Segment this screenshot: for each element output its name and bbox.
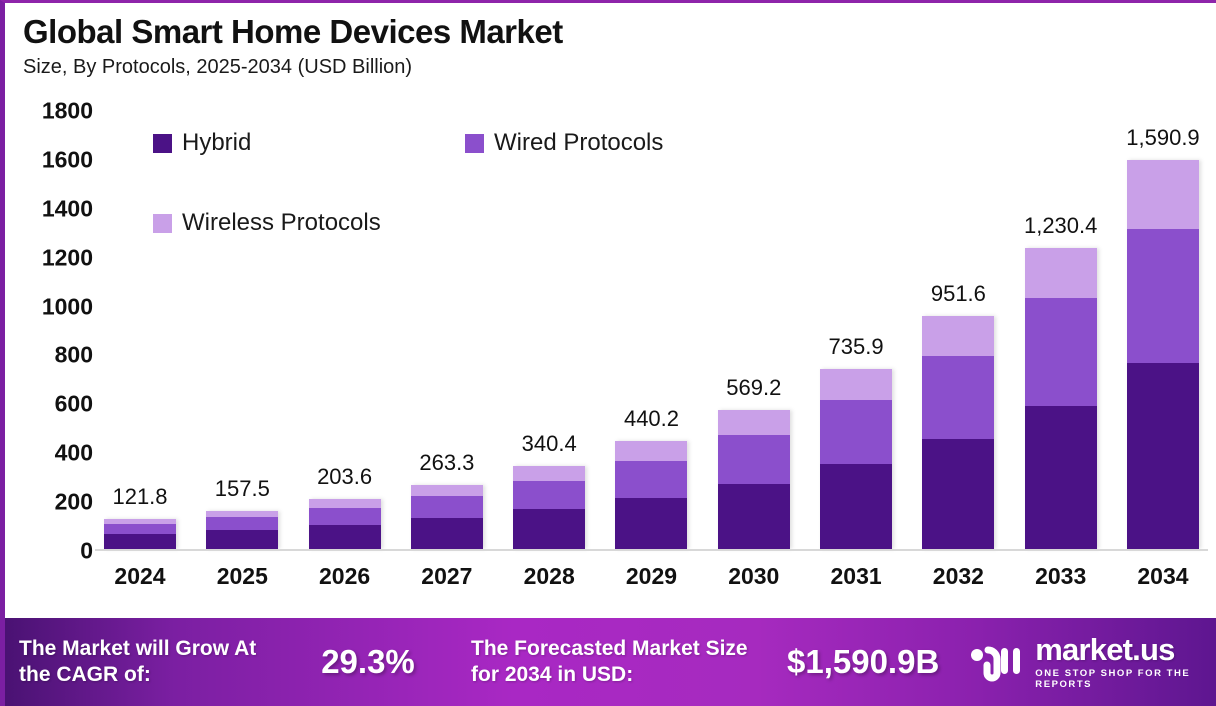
- bar-stack[interactable]: [1127, 160, 1199, 549]
- market-us-logo-icon: [969, 641, 1025, 683]
- x-axis: 2024202520262027202820292030203120322033…: [101, 563, 1202, 590]
- bar-value-label: 1,230.4: [1024, 213, 1097, 239]
- bar-value-label: 1,590.9: [1126, 125, 1199, 151]
- bar-value-label: 569.2: [726, 375, 781, 401]
- legend-item-wireless[interactable]: Wireless Protocols: [153, 209, 465, 237]
- header: Global Smart Home Devices Market Size, B…: [5, 3, 1216, 79]
- bar-segment-wireless[interactable]: [820, 369, 892, 400]
- bar-segment-hybrid[interactable]: [922, 439, 994, 549]
- cagr-block: The Market will Grow At the CAGR of: 29.…: [5, 636, 443, 689]
- bar-value-label: 340.4: [522, 431, 577, 457]
- bar-segment-hybrid[interactable]: [104, 534, 176, 549]
- x-axis-tick: 2027: [408, 563, 486, 590]
- bar-segment-hybrid[interactable]: [513, 509, 585, 549]
- bar-column[interactable]: 1,230.4: [1022, 111, 1100, 549]
- forecast-value: $1,590.9B: [787, 643, 939, 681]
- bar-segment-wireless[interactable]: [718, 410, 790, 435]
- bar-segment-wired[interactable]: [615, 461, 687, 498]
- bar-segment-wireless[interactable]: [1127, 160, 1199, 229]
- x-axis-tick: 2024: [101, 563, 179, 590]
- bar-value-label: 735.9: [829, 334, 884, 360]
- legend-swatch-icon: [153, 214, 172, 233]
- bar-segment-wired[interactable]: [922, 356, 994, 439]
- bar-segment-wired[interactable]: [820, 400, 892, 464]
- legend-swatch-icon: [465, 134, 484, 153]
- cagr-value: 29.3%: [293, 643, 443, 681]
- bar-segment-wired[interactable]: [513, 481, 585, 510]
- page-subtitle: Size, By Protocols, 2025-2034 (USD Billi…: [23, 56, 1216, 79]
- bar-value-label: 951.6: [931, 281, 986, 307]
- y-axis-tick: 1400: [5, 195, 93, 222]
- chart-area: 180016001400120010008006004002000 121.81…: [5, 111, 1216, 611]
- y-axis-tick: 1800: [5, 98, 93, 125]
- bar-value-label: 121.8: [112, 484, 167, 510]
- bar-segment-wireless[interactable]: [411, 485, 483, 496]
- y-axis-tick: 1200: [5, 244, 93, 271]
- market-us-logo-text: market.us ONE STOP SHOP FOR THE REPORTS: [1035, 634, 1216, 690]
- bar-stack[interactable]: [922, 316, 994, 549]
- bar-stack[interactable]: [104, 519, 176, 549]
- legend-swatch-icon: [153, 134, 172, 153]
- bar-value-label: 157.5: [215, 476, 270, 502]
- x-axis-tick: 2026: [306, 563, 384, 590]
- bar-value-label: 263.3: [419, 450, 474, 476]
- bar-segment-wired[interactable]: [309, 508, 381, 525]
- bar-segment-hybrid[interactable]: [615, 498, 687, 549]
- chart-page: Global Smart Home Devices Market Size, B…: [0, 0, 1216, 706]
- bar-stack[interactable]: [206, 511, 278, 549]
- legend-label: Hybrid: [182, 129, 251, 157]
- bar-stack[interactable]: [513, 466, 585, 549]
- y-axis-tick: 400: [5, 440, 93, 467]
- bar-segment-wired[interactable]: [411, 496, 483, 518]
- bar-column[interactable]: 951.6: [919, 111, 997, 549]
- forecast-label: The Forecasted Market Size for 2034 in U…: [471, 636, 771, 689]
- y-axis-tick: 200: [5, 489, 93, 516]
- bar-segment-wireless[interactable]: [513, 466, 585, 481]
- y-axis: 180016001400120010008006004002000: [5, 111, 93, 551]
- footer-bar: The Market will Grow At the CAGR of: 29.…: [5, 618, 1216, 706]
- bar-value-label: 440.2: [624, 406, 679, 432]
- bar-stack[interactable]: [411, 485, 483, 549]
- bar-segment-wireless[interactable]: [922, 316, 994, 356]
- bar-stack[interactable]: [820, 369, 892, 549]
- bar-value-label: 203.6: [317, 464, 372, 490]
- legend-label: Wired Protocols: [494, 129, 663, 157]
- y-axis-tick: 800: [5, 342, 93, 369]
- bar-segment-hybrid[interactable]: [1127, 363, 1199, 549]
- bar-stack[interactable]: [718, 410, 790, 549]
- bar-segment-hybrid[interactable]: [820, 464, 892, 549]
- x-axis-tick: 2029: [612, 563, 690, 590]
- bar-segment-wireless[interactable]: [1025, 248, 1097, 298]
- bar-segment-hybrid[interactable]: [411, 518, 483, 549]
- bar-stack[interactable]: [1025, 248, 1097, 549]
- x-axis-tick: 2033: [1022, 563, 1100, 590]
- bar-segment-hybrid[interactable]: [1025, 406, 1097, 549]
- x-axis-tick: 2031: [817, 563, 895, 590]
- logo-wordmark: market.us: [1035, 634, 1216, 665]
- x-axis-tick: 2032: [919, 563, 997, 590]
- x-axis-tick: 2030: [715, 563, 793, 590]
- market-us-logo[interactable]: market.us ONE STOP SHOP FOR THE REPORTS: [969, 634, 1216, 690]
- bar-column[interactable]: 735.9: [817, 111, 895, 549]
- bar-stack[interactable]: [309, 499, 381, 549]
- bar-stack[interactable]: [615, 441, 687, 549]
- bar-segment-hybrid[interactable]: [309, 525, 381, 549]
- logo-tagline: ONE STOP SHOP FOR THE REPORTS: [1035, 668, 1216, 690]
- bar-segment-wired[interactable]: [206, 517, 278, 530]
- legend-label: Wireless Protocols: [182, 209, 381, 237]
- page-title: Global Smart Home Devices Market: [23, 13, 1216, 51]
- bar-segment-hybrid[interactable]: [206, 530, 278, 549]
- bar-segment-wired[interactable]: [718, 435, 790, 483]
- y-axis-tick: 600: [5, 391, 93, 418]
- chart-legend: Hybrid Wired Protocols Wireless Protocol…: [153, 129, 773, 237]
- x-axis-tick: 2025: [203, 563, 281, 590]
- legend-row-2: Wireless Protocols: [153, 209, 773, 237]
- y-axis-tick: 1000: [5, 293, 93, 320]
- y-axis-tick: 0: [5, 538, 93, 565]
- bar-column[interactable]: 1,590.9: [1124, 111, 1202, 549]
- bar-segment-wired[interactable]: [104, 524, 176, 534]
- bar-segment-wired[interactable]: [1127, 229, 1199, 363]
- legend-row-1: Hybrid Wired Protocols: [153, 129, 773, 157]
- bar-segment-wireless[interactable]: [309, 499, 381, 508]
- axis-baseline: [95, 549, 1208, 551]
- bar-segment-wired[interactable]: [1025, 298, 1097, 406]
- x-axis-tick: 2028: [510, 563, 588, 590]
- bar-segment-hybrid[interactable]: [718, 484, 790, 550]
- y-axis-tick: 1600: [5, 146, 93, 173]
- cagr-label: The Market will Grow At the CAGR of:: [19, 636, 289, 689]
- legend-item-hybrid[interactable]: Hybrid: [153, 129, 465, 157]
- forecast-block: The Forecasted Market Size for 2034 in U…: [443, 636, 939, 689]
- x-axis-tick: 2034: [1124, 563, 1202, 590]
- bar-segment-wireless[interactable]: [615, 441, 687, 460]
- legend-item-wired[interactable]: Wired Protocols: [465, 129, 663, 157]
